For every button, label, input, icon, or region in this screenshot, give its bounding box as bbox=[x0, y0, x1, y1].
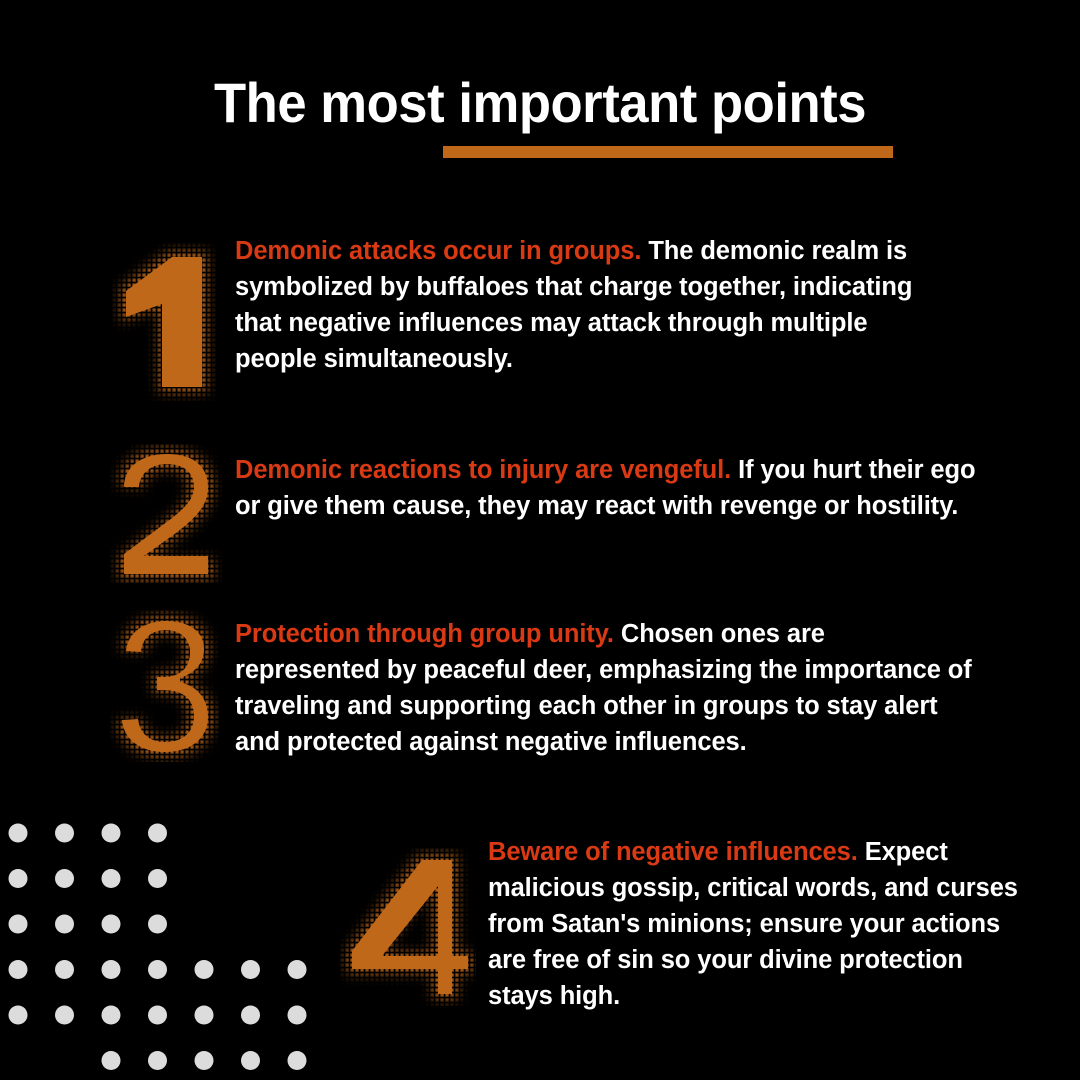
grid-dot bbox=[102, 1051, 121, 1070]
grid-dot bbox=[195, 1006, 214, 1025]
grid-dot bbox=[148, 960, 167, 979]
point-4-lead: Beware of negative influences. bbox=[488, 838, 858, 866]
grid-dot bbox=[9, 824, 28, 843]
grid-dot bbox=[241, 1006, 260, 1025]
grid-dot bbox=[55, 1006, 74, 1025]
numeral-4-icon bbox=[340, 848, 476, 1006]
grid-dot bbox=[195, 960, 214, 979]
point-1-text: Demonic attacks occur in groups. The dem… bbox=[235, 233, 941, 377]
title-block: The most important points bbox=[0, 72, 1080, 134]
grid-dot bbox=[9, 869, 28, 888]
numeral-3-icon bbox=[110, 610, 220, 762]
numeral-1-icon bbox=[112, 243, 216, 401]
grid-dot bbox=[241, 960, 260, 979]
page-title: The most important points bbox=[32, 72, 1047, 134]
point-3-text: Protection through group unity. Chosen o… bbox=[235, 616, 975, 760]
grid-dot bbox=[148, 915, 167, 934]
grid-dot bbox=[102, 824, 121, 843]
numeral-2-icon bbox=[110, 444, 222, 584]
grid-dot bbox=[148, 1006, 167, 1025]
grid-dot bbox=[148, 824, 167, 843]
halftone-dot-grid bbox=[0, 815, 310, 1080]
grid-dot bbox=[288, 1051, 307, 1070]
grid-dot bbox=[288, 960, 307, 979]
point-2-lead: Demonic reactions to injury are vengeful… bbox=[235, 456, 731, 484]
grid-dot bbox=[55, 960, 74, 979]
grid-dot bbox=[102, 915, 121, 934]
grid-dot bbox=[148, 869, 167, 888]
grid-dot bbox=[148, 1051, 167, 1070]
point-2-text: Demonic reactions to injury are vengeful… bbox=[235, 452, 985, 524]
grid-dot bbox=[288, 1006, 307, 1025]
grid-dot bbox=[9, 915, 28, 934]
grid-dot bbox=[241, 1051, 260, 1070]
point-3-lead: Protection through group unity. bbox=[235, 620, 614, 648]
grid-dot bbox=[102, 1006, 121, 1025]
grid-dot bbox=[55, 824, 74, 843]
grid-dot bbox=[9, 1006, 28, 1025]
grid-dot bbox=[55, 869, 74, 888]
title-underline-rule bbox=[443, 146, 893, 158]
point-4-text: Beware of negative influences. Expect ma… bbox=[488, 834, 1028, 1014]
point-1-lead: Demonic attacks occur in groups. bbox=[235, 237, 641, 265]
grid-dot bbox=[195, 1051, 214, 1070]
poster-canvas: The most important points bbox=[0, 0, 1080, 1080]
grid-dot bbox=[102, 869, 121, 888]
grid-dot bbox=[55, 915, 74, 934]
grid-dot bbox=[9, 960, 28, 979]
grid-dot bbox=[102, 960, 121, 979]
